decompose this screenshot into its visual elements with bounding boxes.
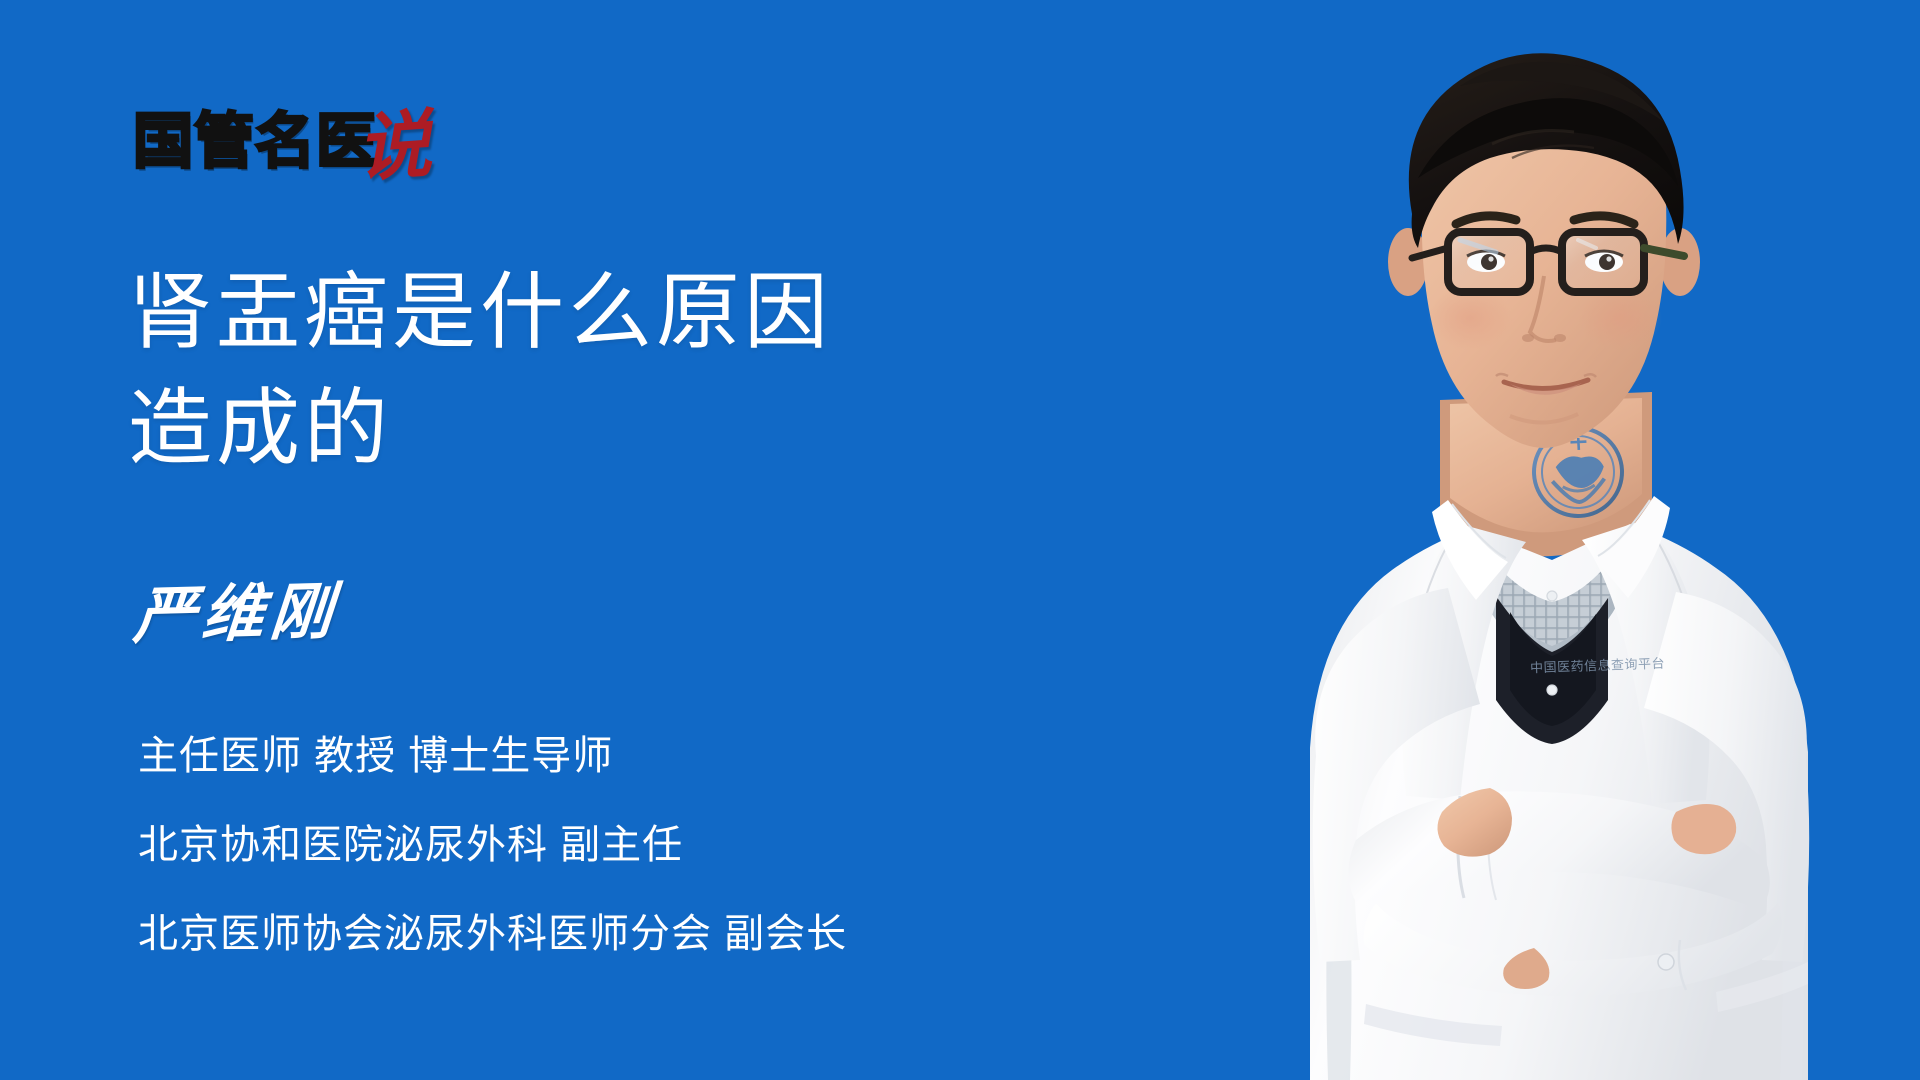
doctor-credentials: 主任医师 教授 博士生导师 北京协和医院泌尿外科 副主任 北京医师协会泌尿外科医…: [138, 712, 847, 979]
doctor-name: 严维刚: [131, 575, 341, 652]
credential-line-1: 主任医师 教授 博士生导师: [138, 712, 847, 801]
brand-logo: 国管名医 说: [133, 96, 431, 172]
page-title-line-1: 肾盂癌是什么原因: [128, 254, 1088, 370]
brand-logo-text: 国管名医: [133, 112, 377, 172]
doctor-portrait: [1160, 0, 1920, 1080]
credential-line-3: 北京医师协会泌尿外科医师分会 副会长: [138, 890, 847, 979]
brand-logo-accent-text: 说: [355, 113, 433, 180]
page-title: 肾盂癌是什么原因 造成的: [128, 254, 1088, 486]
page-title-line-2: 造成的: [128, 370, 1088, 486]
doctor-portrait-illustration: [1160, 0, 1920, 1080]
credential-line-2: 北京协和医院泌尿外科 副主任: [138, 801, 847, 890]
slide-canvas: 国管名医 说 肾盂癌是什么原因 造成的 严维刚 主任医师 教授 博士生导师 北京…: [0, 0, 1920, 1080]
